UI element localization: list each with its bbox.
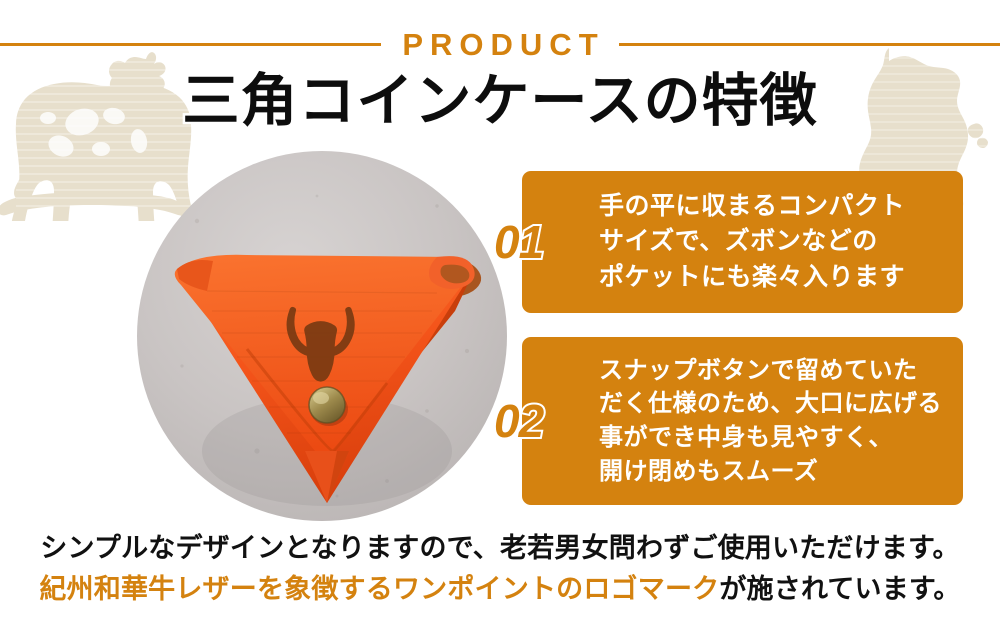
feature-line: ポケットにも楽々入ります [599, 260, 953, 296]
feature-line: 開け閉めもスムーズ [599, 455, 953, 489]
feature-number-02: 02 [494, 398, 543, 444]
divider-right [619, 43, 1000, 46]
feature-card-02: 02 スナップボタンで留めていた だく仕様のため、大口に広げる 事ができ中身も見… [522, 337, 963, 505]
feature-line: サイズで、ズボンなどの [599, 224, 953, 260]
feature-card-01: 01 手の平に収まるコンパクト サイズで、ズボンなどの ポケットにも楽々入ります [522, 171, 963, 313]
feature-line: スナップボタンで留めていた [599, 354, 953, 388]
eyebrow-row: PRODUCT [0, 22, 1000, 66]
product-feature-panel: PRODUCT 三角コインケースの特徴 [0, 0, 1000, 621]
feature-line: 手の平に収まるコンパクト [599, 189, 953, 225]
feature-line: だく仕様のため、大口に広げる [599, 387, 953, 421]
bottom-line-2-rest: が施されています。 [719, 574, 960, 604]
feature-number-01: 01 [494, 219, 543, 265]
bottom-line-2: 紀州和華牛レザーを象徴するワンポイントのロゴマークが施されています。 [0, 569, 1000, 610]
divider-left [0, 43, 381, 46]
bottom-line-2-highlight: 紀州和華牛レザーを象徴するワンポイントのロゴマーク [39, 574, 719, 604]
bottom-description: シンプルなデザインとなりますので、老若男女問わずご使用いただけます。 紀州和華牛… [0, 528, 1000, 610]
feature-line: 事ができ中身も見やすく、 [599, 421, 953, 455]
page-title: 三角コインケースの特徴 [0, 70, 1000, 134]
product-photo [137, 151, 507, 521]
feature-text-02: スナップボタンで留めていた だく仕様のため、大口に広げる 事ができ中身も見やすく… [599, 337, 953, 505]
bottom-line-1: シンプルなデザインとなりますので、老若男女問わずご使用いただけます。 [0, 528, 1000, 569]
feature-text-01: 手の平に収まるコンパクト サイズで、ズボンなどの ポケットにも楽々入ります [599, 171, 953, 313]
eyebrow-label: PRODUCT [381, 29, 618, 60]
